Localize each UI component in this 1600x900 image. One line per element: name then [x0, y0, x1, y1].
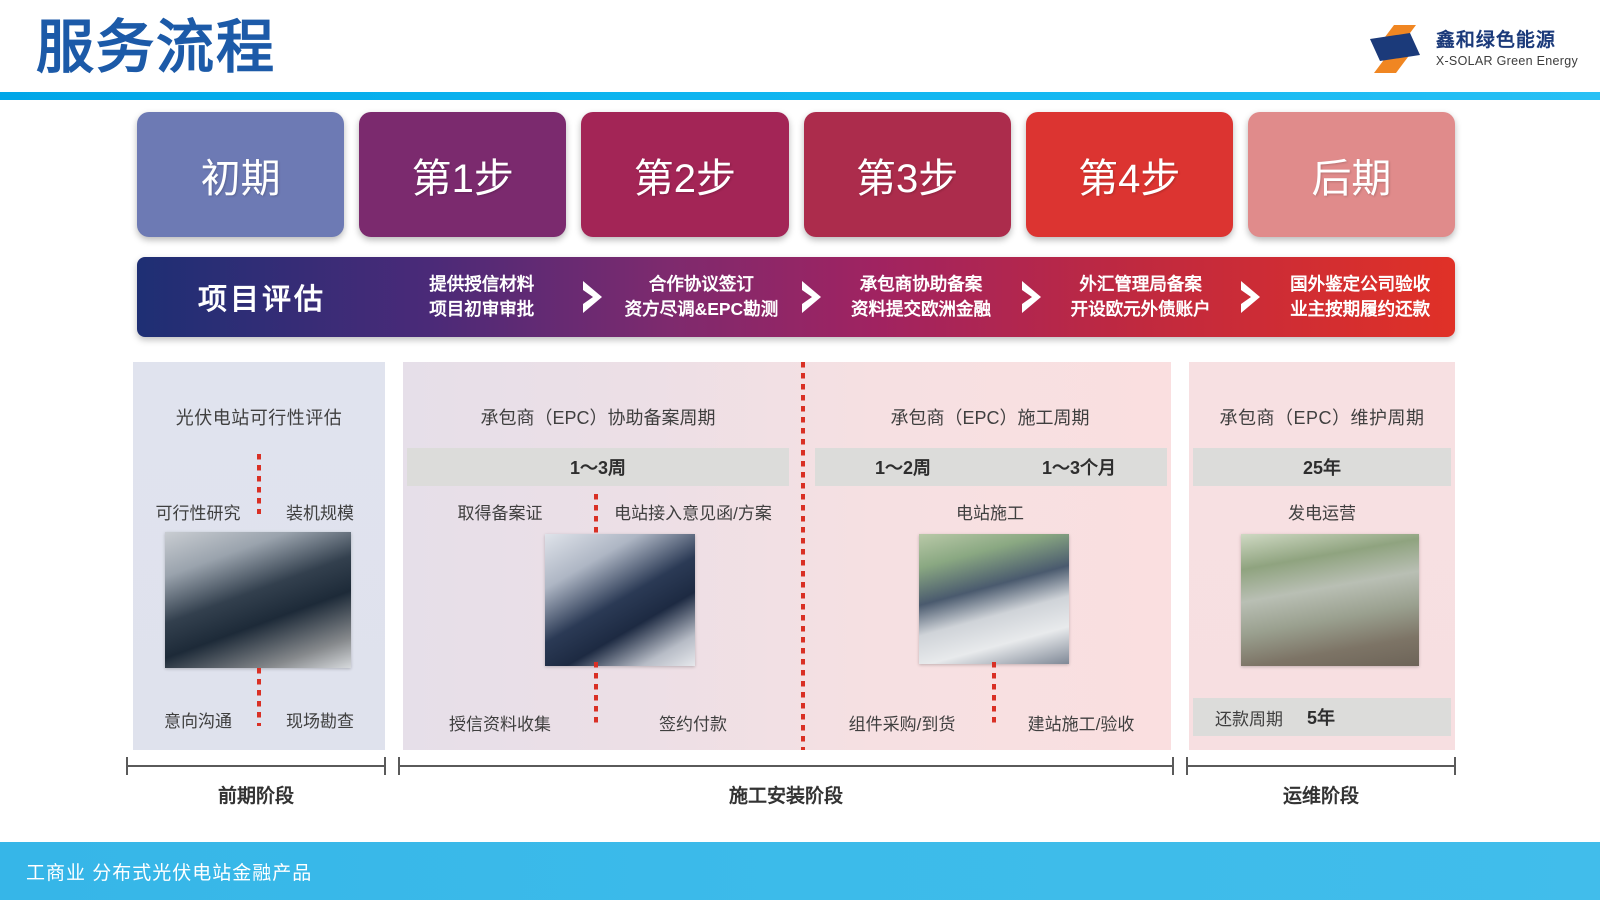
brand-logo-text: 鑫和绿色能源 X-SOLAR Green Energy — [1436, 29, 1578, 70]
panel-1-title: 光伏电站可行性评估 — [133, 404, 385, 430]
step-box-2[interactable]: 第1步 — [359, 112, 566, 237]
panel-2-3-separator — [801, 362, 805, 750]
page-header: 服务流程 鑫和绿色能源 X-SOLAR Green Energy — [0, 0, 1600, 96]
process-banner: 项目评估 提供授信材料项目初审审批合作协议签订资方尽调&EPC勘测承包商协助备案… — [137, 257, 1455, 337]
panel-3-duration-right: 1～3个月 — [991, 454, 1167, 480]
banner-step-4[interactable]: 外汇管理局备案开设欧元外债账户 — [1046, 257, 1236, 337]
phase-panels: 光伏电站可行性评估 可行性研究 装机规模 意向沟通 现场勘查 承包商（EPC）协… — [133, 362, 1455, 750]
bracket-2-cap-left — [398, 757, 400, 775]
panel-4-repayment-value: 5年 — [1307, 704, 1335, 730]
bracket-3-cap-left — [1186, 757, 1188, 775]
banner-step-list: 提供授信材料项目初审审批合作协议签订资方尽调&EPC勘测承包商协助备案资料提交欧… — [387, 257, 1455, 337]
brand-logo: 鑫和绿色能源 X-SOLAR Green Energy — [1366, 20, 1578, 78]
step-box-6[interactable]: 后期 — [1248, 112, 1455, 237]
panel-3-title: 承包商（EPC）施工周期 — [813, 404, 1167, 430]
panel-3-row-mid: 电站施工 — [813, 499, 1167, 524]
banner-step-3[interactable]: 承包商协助备案资料提交欧洲金融 — [826, 257, 1016, 337]
panel-operations: 承包商（EPC）维护周期 25年 发电运营 还款周期 5年 — [1189, 362, 1455, 750]
banner-step-5-line2: 业主按期履约还款 — [1290, 297, 1430, 322]
page-footer: 工商业 分布式光伏电站金融产品 — [0, 842, 1600, 900]
banner-step-2[interactable]: 合作协议签订资方尽调&EPC勘测 — [607, 257, 797, 337]
bracket-2-cap-right — [1172, 757, 1174, 775]
step-box-4[interactable]: 第3步 — [804, 112, 1011, 237]
x-solar-logo-mark — [1366, 23, 1424, 75]
panel-construction: 承包商（EPC）协助备案周期 1～3周 取得备案证 电站接入意见函/方案 授信资… — [403, 362, 1171, 750]
step-box-1[interactable]: 初期 — [137, 112, 344, 237]
bracket-1-cap-left — [126, 757, 128, 775]
panel-1-row-top-left: 可行性研究 — [139, 499, 257, 524]
bracket-3-line — [1186, 765, 1456, 767]
brand-name-en: X-SOLAR Green Energy — [1436, 53, 1578, 70]
panel-1-row-bottom-right: 现场勘查 — [261, 707, 379, 732]
chevron-right-icon — [577, 257, 607, 337]
panel-3-row-bottom-left: 组件采购/到货 — [813, 710, 991, 735]
phase-brackets: 前期阶段 施工安装阶段 运维阶段 — [0, 757, 1600, 817]
bracket-2-label: 施工安装阶段 — [398, 781, 1174, 808]
banner-step-1[interactable]: 提供授信材料项目初审审批 — [387, 257, 577, 337]
banner-step-5-line1: 国外鉴定公司验收 — [1290, 272, 1430, 297]
step-box-3[interactable]: 第2步 — [581, 112, 788, 237]
photo-desk-monitor-laptop — [545, 534, 695, 666]
panel-2-row-bottom-left: 授信资料收集 — [407, 710, 593, 735]
banner-step-1-line2: 项目初审审批 — [429, 297, 534, 322]
panel-3-row-bottom-right: 建站施工/验收 — [995, 710, 1167, 735]
panel-3-duration-left: 1～2周 — [815, 454, 991, 480]
banner-step-2-line1: 合作协议签订 — [649, 272, 754, 297]
panel-4-duration-bar: 25年 — [1193, 448, 1451, 486]
panel-2-row-bottom-right: 签约付款 — [597, 710, 789, 735]
panel-2-row-top-left: 取得备案证 — [407, 499, 593, 524]
bracket-2-line — [398, 765, 1174, 767]
bracket-2: 施工安装阶段 — [398, 757, 1174, 775]
banner-step-4-line1: 外汇管理局备案 — [1079, 272, 1202, 297]
panel-preliminary: 光伏电站可行性评估 可行性研究 装机规模 意向沟通 现场勘查 — [133, 362, 385, 750]
photo-three-workers-walking — [1241, 534, 1419, 666]
bracket-1-line — [126, 765, 386, 767]
bracket-1: 前期阶段 — [126, 757, 386, 775]
brand-name-cn: 鑫和绿色能源 — [1436, 29, 1578, 53]
bracket-3-label: 运维阶段 — [1186, 781, 1456, 808]
banner-step-1-line1: 提供授信材料 — [429, 272, 534, 297]
panel-2-duration-bar: 1～3周 — [407, 448, 789, 486]
panel-4-repayment-label: 还款周期 — [1215, 705, 1283, 730]
banner-title: 项目评估 — [137, 257, 387, 337]
footer-text: 工商业 分布式光伏电站金融产品 — [26, 858, 312, 885]
bracket-3-cap-right — [1454, 757, 1456, 775]
banner-step-3-line2: 资料提交欧洲金融 — [851, 297, 991, 322]
step-box-row: 初期第1步第2步第3步第4步后期 — [137, 112, 1455, 237]
header-divider-rule — [0, 92, 1600, 100]
panel-2-row-top-right: 电站接入意见函/方案 — [597, 499, 789, 524]
banner-step-4-line2: 开设欧元外债账户 — [1071, 297, 1211, 322]
photo-engineer-at-monitor — [165, 532, 351, 668]
panel-4-title: 承包商（EPC）维护周期 — [1189, 404, 1455, 430]
bracket-1-cap-right — [384, 757, 386, 775]
panel-4-row-mid: 发电运营 — [1189, 499, 1455, 524]
chevron-right-icon — [1235, 257, 1265, 337]
banner-step-5[interactable]: 国外鉴定公司验收业主按期履约还款 — [1265, 257, 1455, 337]
panel-3-duration-bar: 1～2周 1～3个月 — [815, 448, 1167, 486]
banner-step-3-line1: 承包商协助备案 — [860, 272, 983, 297]
panel-2-title: 承包商（EPC）协助备案周期 — [403, 404, 793, 430]
page-title: 服务流程 — [36, 12, 276, 84]
bracket-1-label: 前期阶段 — [126, 781, 386, 808]
panel-1-row-top-right: 装机规模 — [261, 499, 379, 524]
banner-step-2-line2: 资方尽调&EPC勘测 — [625, 297, 779, 322]
chevron-right-icon — [1016, 257, 1046, 337]
panel-1-row-bottom-left: 意向沟通 — [139, 707, 257, 732]
photo-workers-on-solar-array — [919, 534, 1069, 664]
step-box-5[interactable]: 第4步 — [1026, 112, 1233, 237]
chevron-right-icon — [796, 257, 826, 337]
panel-4-repayment-bar: 还款周期 5年 — [1193, 698, 1451, 736]
bracket-3: 运维阶段 — [1186, 757, 1456, 775]
